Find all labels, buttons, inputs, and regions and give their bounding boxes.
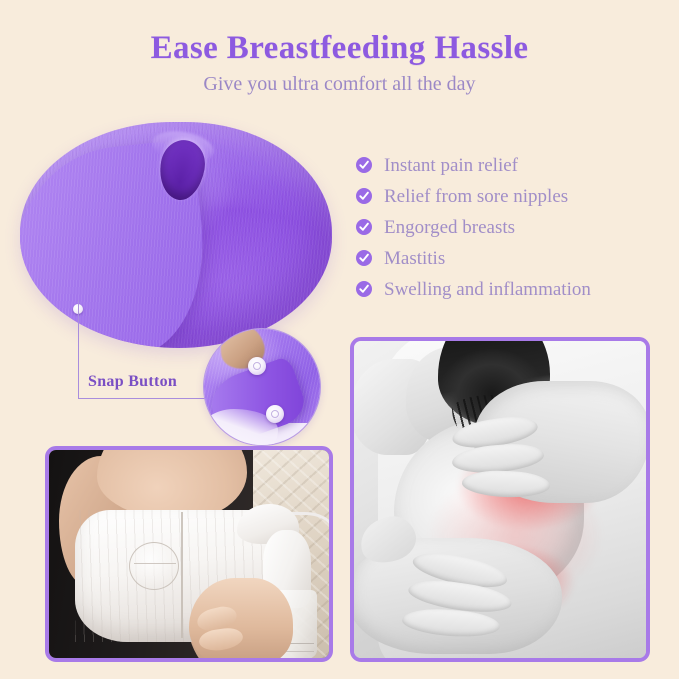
- list-item: Relief from sore nipples: [356, 181, 666, 211]
- check-circle-icon: [356, 188, 372, 204]
- magnified-snap-icon: [266, 405, 284, 423]
- check-circle-icon: [356, 157, 372, 173]
- list-item-label: Mastitis: [384, 249, 445, 268]
- list-item: Swelling and inflammation: [356, 274, 666, 304]
- page-subtitle: Give you ultra comfort all the day: [0, 73, 679, 96]
- product-image: [18, 118, 338, 353]
- nursing-pad-body: [20, 122, 332, 348]
- list-item: Engorged breasts: [356, 212, 666, 242]
- check-circle-icon: [356, 281, 372, 297]
- breast-pain-photo: [350, 337, 650, 662]
- list-item-label: Swelling and inflammation: [384, 280, 591, 299]
- snap-button-magnifier: [203, 328, 321, 446]
- list-item: Instant pain relief: [356, 150, 666, 180]
- list-item: Mastitis: [356, 243, 666, 273]
- benefits-list: Instant pain relief Relief from sore nip…: [356, 150, 666, 305]
- check-circle-icon: [356, 250, 372, 266]
- header: Ease Breastfeeding Hassle Give you ultra…: [0, 30, 679, 96]
- list-item-label: Instant pain relief: [384, 156, 518, 175]
- pumping-bra-photo: [45, 446, 333, 662]
- product-infographic: Ease Breastfeeding Hassle Give you ultra…: [0, 0, 679, 679]
- page-title: Ease Breastfeeding Hassle: [0, 30, 679, 67]
- photo-bra-opening: [129, 542, 179, 590]
- check-circle-icon: [356, 219, 372, 235]
- callout-line-vertical: [78, 300, 79, 399]
- snap-button-label: Snap Button: [88, 373, 177, 391]
- photo-bra-seam: [181, 512, 183, 638]
- magnified-snap-icon: [248, 357, 266, 375]
- list-item-label: Engorged breasts: [384, 218, 515, 237]
- list-item-label: Relief from sore nipples: [384, 187, 568, 206]
- callout-line-horizontal: [78, 398, 218, 399]
